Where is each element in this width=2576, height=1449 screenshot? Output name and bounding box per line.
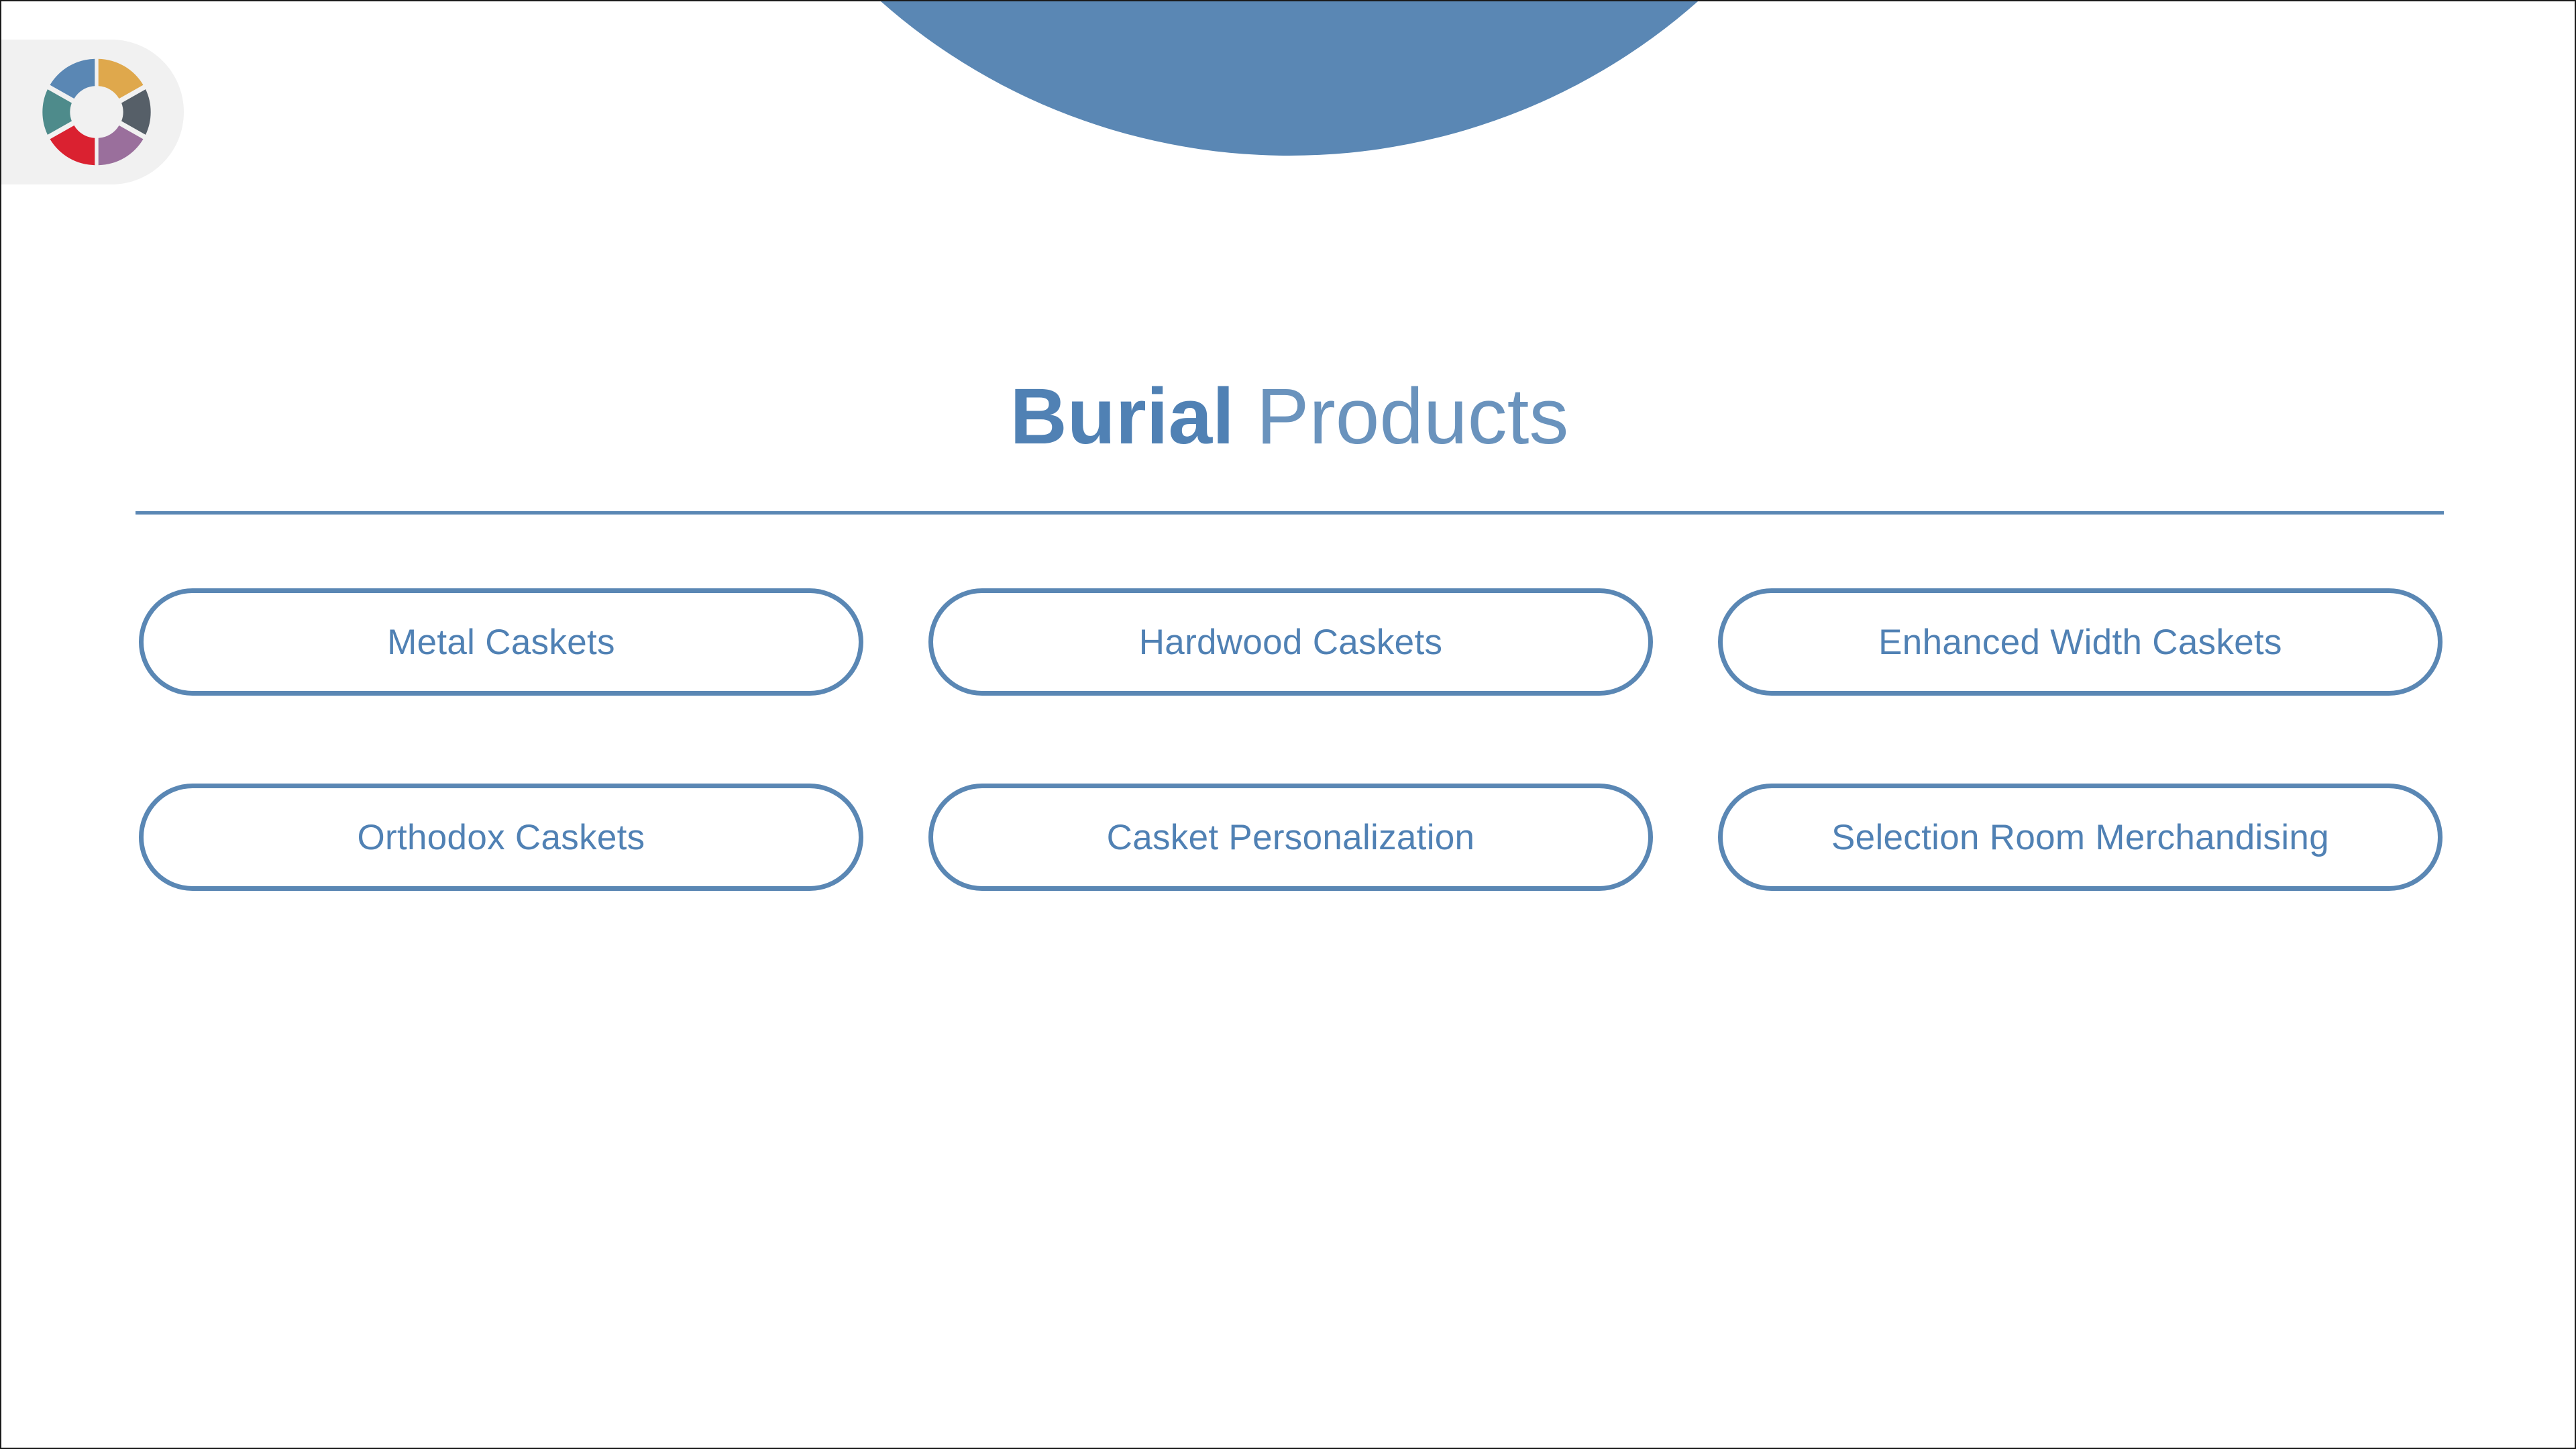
title-divider: [136, 511, 2444, 515]
button-label: Hardwood Caskets: [1139, 622, 1443, 663]
product-category-grid: Metal Caskets Hardwood Caskets Enhanced …: [139, 588, 2443, 891]
button-hardwood-caskets[interactable]: Hardwood Caskets: [928, 588, 1653, 696]
ring-segment-purple: [99, 125, 144, 165]
top-blue-arc: [679, 0, 1900, 156]
button-orthodox-caskets[interactable]: Orthodox Caskets: [139, 784, 863, 891]
ring-segment-red: [50, 125, 95, 165]
button-selection-room-merchandising[interactable]: Selection Room Merchandising: [1718, 784, 2443, 891]
page-title-light: Products: [1256, 372, 1569, 461]
ring-segment-teal: [42, 89, 72, 135]
ring-segment-blue: [50, 59, 95, 99]
slide-canvas: Burial Products Metal Caskets Hardwood C…: [0, 0, 2576, 1449]
button-casket-personalization[interactable]: Casket Personalization: [928, 784, 1653, 891]
company-ring-logo: [36, 52, 157, 172]
button-label: Casket Personalization: [1107, 817, 1475, 858]
ring-segment-gold: [99, 59, 144, 99]
button-label: Selection Room Merchandising: [1831, 817, 2329, 858]
button-label: Orthodox Caskets: [358, 817, 645, 858]
logo-badge: [1, 40, 184, 184]
button-metal-caskets[interactable]: Metal Caskets: [139, 588, 863, 696]
button-label: Enhanced Width Caskets: [1878, 622, 2282, 663]
page-title-bold: Burial: [1010, 372, 1234, 461]
ring-segment-gray: [121, 89, 151, 135]
button-label: Metal Caskets: [387, 622, 615, 663]
button-enhanced-width-caskets[interactable]: Enhanced Width Caskets: [1718, 588, 2443, 696]
page-title: Burial Products: [1, 377, 2576, 456]
